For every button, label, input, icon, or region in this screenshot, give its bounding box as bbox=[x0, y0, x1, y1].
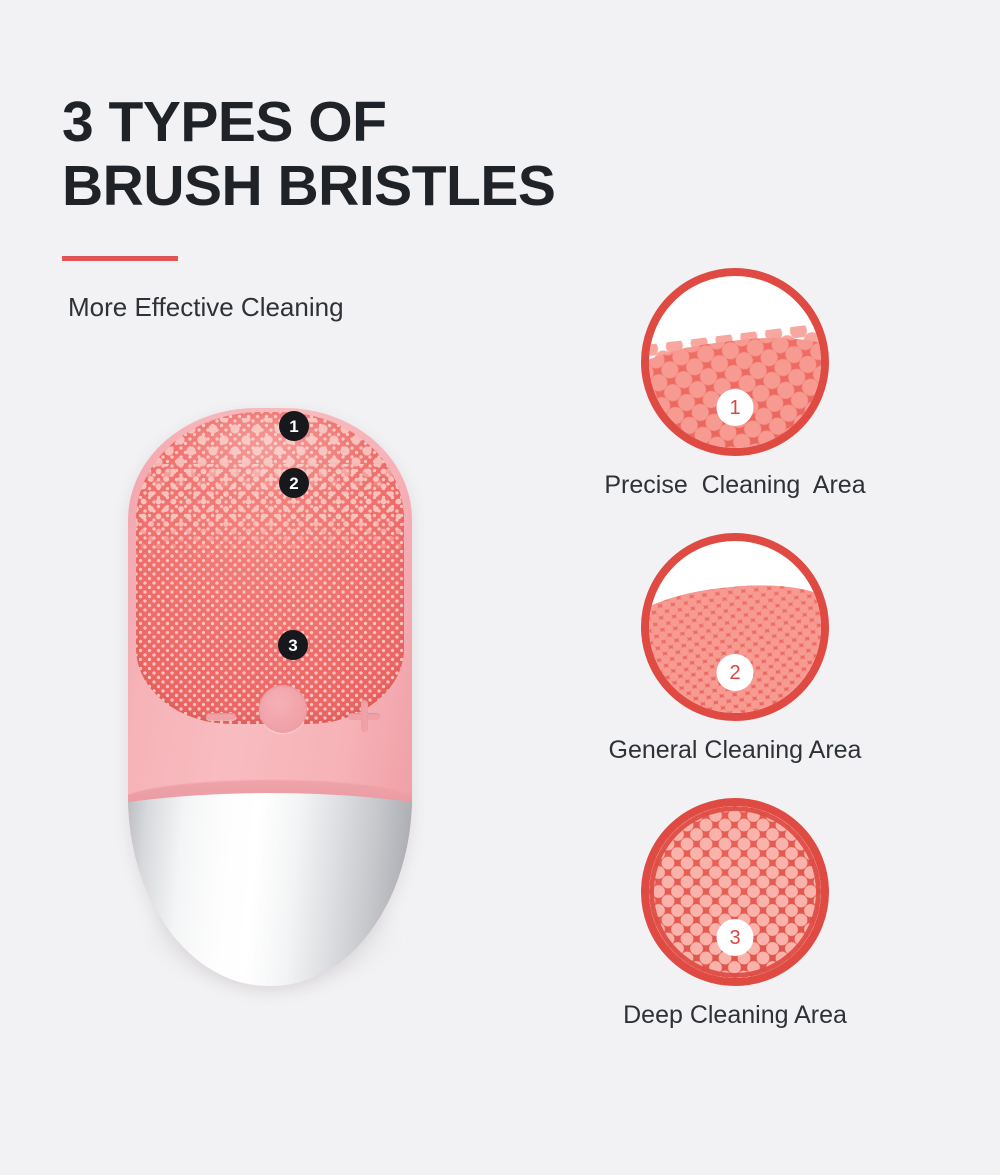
page-title-line-1: 3 TYPES OF bbox=[62, 90, 622, 154]
infographic-page: 3 TYPES OF BRUSH BRISTLES More Effective… bbox=[0, 0, 1000, 1175]
deep-bristle-grid-icon: 3 bbox=[641, 798, 829, 986]
brush-head-pad bbox=[136, 412, 404, 724]
feature-item-precise: 1 Precise Cleaning Area bbox=[560, 268, 910, 500]
device-metal-base bbox=[128, 793, 412, 986]
increase-intensity-button[interactable] bbox=[348, 700, 380, 732]
power-button[interactable] bbox=[259, 685, 307, 733]
precise-bristle-closeup-icon: 1 bbox=[641, 268, 829, 456]
device-callout-2: 2 bbox=[279, 468, 309, 498]
page-subtitle: More Effective Cleaning bbox=[68, 291, 622, 323]
page-title-line-2: BRUSH BRISTLES bbox=[62, 154, 622, 218]
accent-underline bbox=[62, 256, 178, 261]
feature-badge-3: 3 bbox=[717, 919, 754, 956]
product-device-image: 1 2 3 bbox=[128, 408, 412, 986]
general-bristle-closeup-icon: 2 bbox=[641, 533, 829, 721]
feature-caption-1: Precise Cleaning Area bbox=[560, 470, 910, 500]
feature-caption-3: Deep Cleaning Area bbox=[560, 1000, 910, 1030]
feature-badge-2: 2 bbox=[717, 654, 754, 691]
decrease-intensity-button[interactable] bbox=[206, 713, 236, 720]
device-silicone-body bbox=[128, 408, 412, 986]
device-callout-3: 3 bbox=[278, 630, 308, 660]
feature-badge-1: 1 bbox=[717, 389, 754, 426]
feature-item-general: 2 General Cleaning Area bbox=[560, 533, 910, 765]
header-block: 3 TYPES OF BRUSH BRISTLES More Effective… bbox=[62, 90, 622, 323]
feature-caption-2: General Cleaning Area bbox=[560, 735, 910, 765]
feature-list: 1 Precise Cleaning Area 2 General Cleani… bbox=[560, 268, 910, 1063]
feature-item-deep: 3 Deep Cleaning Area bbox=[560, 798, 910, 1030]
general-bristle-field bbox=[641, 576, 829, 721]
device-callout-1: 1 bbox=[279, 411, 309, 441]
